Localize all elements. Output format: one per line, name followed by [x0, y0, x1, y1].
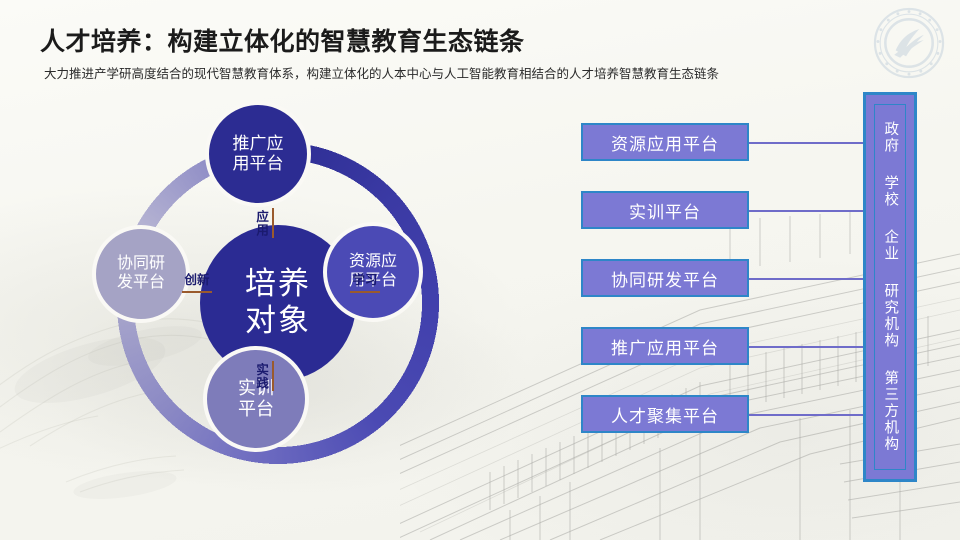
connector-label-innovation: 创新 — [182, 269, 212, 293]
node-right-line1: 资源应 — [349, 253, 397, 270]
platform-box-label: 人才聚集平台 — [611, 402, 719, 427]
stakeholder-item-third-party: 第三方机构 — [883, 370, 898, 453]
connector-right-text: 学习 — [352, 269, 377, 288]
node-bottom-line2: 平台 — [238, 399, 274, 419]
ecosystem-circle-diagram: 培养 对象 推广应 用平台 资源应 用平台 实训 平台 协同研 发平台 应用 实… — [78, 103, 478, 503]
stakeholder-item-research: 研究机构 — [883, 283, 898, 349]
platform-box-resource[interactable]: 资源应用平台 — [581, 123, 749, 161]
platform-box-promotion[interactable]: 推广应用平台 — [581, 327, 749, 365]
node-top-line2: 用平台 — [233, 154, 284, 173]
platform-box-label: 资源应用平台 — [611, 130, 719, 155]
stakeholder-item-government: 政府 — [883, 121, 898, 154]
flow-connector-line — [749, 414, 871, 416]
platform-box-label: 实训平台 — [629, 198, 701, 223]
stakeholder-item-school: 学校 — [883, 175, 898, 208]
stakeholder-column[interactable]: 政府 学校 企业 研究机构 第三方机构 — [863, 92, 917, 482]
connector-bottom-text: 实践 — [254, 363, 267, 390]
flow-connector-line — [749, 346, 871, 348]
flow-connector-line — [749, 142, 871, 144]
platform-box-training[interactable]: 实训平台 — [581, 191, 749, 229]
platform-box-talent-gathering[interactable]: 人才聚集平台 — [581, 395, 749, 433]
connector-top-text: 应用 — [254, 210, 267, 237]
diagram-node-collaborative-rd-platform[interactable]: 协同研 发平台 — [92, 225, 190, 323]
connector-right-accent-bar — [350, 291, 380, 293]
flow-connector-line — [749, 210, 871, 212]
node-top-line1: 推广应 — [233, 134, 284, 153]
page-subtitle: 大力推进产学研高度结合的现代智慧教育体系，构建立体化的人本中心与人工智能教育相结… — [44, 63, 719, 82]
university-seal-icon — [872, 6, 946, 80]
stakeholder-inner-frame: 政府 学校 企业 研究机构 第三方机构 — [874, 104, 906, 470]
platform-box-collaborative-rd[interactable]: 协同研发平台 — [581, 259, 749, 297]
flow-connector-line — [749, 278, 871, 280]
platform-box-label: 推广应用平台 — [611, 334, 719, 359]
node-left-line1: 协同研 — [117, 255, 165, 272]
connector-bottom-accent-bar — [272, 361, 274, 391]
platform-box-label: 协同研发平台 — [611, 266, 719, 291]
diagram-node-promotion-platform[interactable]: 推广应 用平台 — [205, 101, 311, 207]
center-label-line1: 培养 — [245, 266, 311, 303]
connector-left-accent-bar — [182, 291, 212, 293]
connector-label-application: 应用 — [254, 208, 274, 238]
stakeholder-item-enterprise: 企业 — [883, 229, 898, 262]
page-title: 人才培养：构建立体化的智慧教育生态链条 — [40, 22, 525, 58]
platform-flow-panel: 资源应用平台 实训平台 协同研发平台 推广应用平台 人才聚集平台 政府 学校 企… — [575, 88, 945, 488]
connector-label-practice: 实践 — [254, 361, 274, 391]
center-label-line2: 对象 — [245, 303, 311, 340]
connector-top-accent-bar — [272, 208, 274, 238]
node-left-line2: 发平台 — [117, 274, 165, 291]
connector-left-text: 创新 — [184, 269, 209, 288]
connector-label-learning: 学习 — [350, 269, 380, 293]
